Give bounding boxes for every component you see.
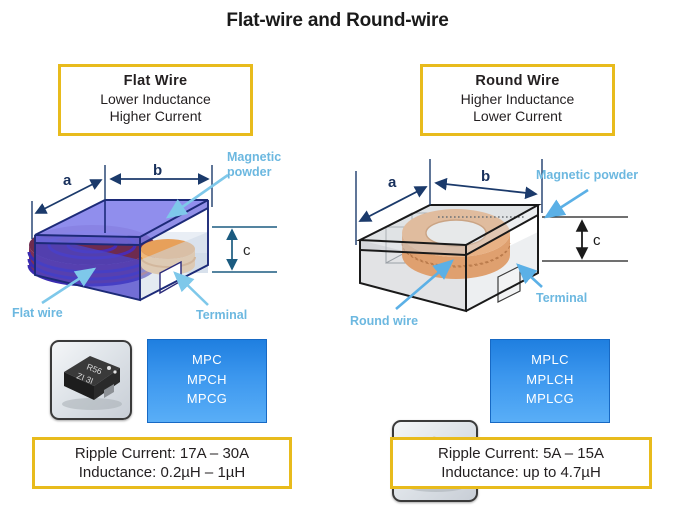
series-item-mpcg: MPCG [148, 392, 266, 406]
callout-flat-wire-line1: Lower Inductance [61, 91, 250, 108]
spec-ripple-current-round: Ripple Current: 5A – 15A [393, 444, 649, 463]
dimension-c-label: c [593, 232, 601, 249]
magnetic-powder-leader [546, 190, 588, 217]
series-item-mplch: MPLCH [491, 373, 609, 387]
spec-box-flat-wire: Ripple Current: 17A – 30A Inductance: 0.… [32, 437, 292, 489]
dimension-b-label: b [481, 168, 490, 185]
dimension-a-label: a [388, 174, 397, 191]
callout-round-wire-line2: Lower Current [423, 108, 612, 125]
series-item-mpc: MPC [148, 353, 266, 367]
round-wire-label: Round wire [350, 314, 418, 328]
series-item-mpch: MPCH [148, 373, 266, 387]
callout-flat-wire-line2: Higher Current [61, 108, 250, 125]
flat-wire-svg: a b c Magnetic powder Flat wire Terminal [0, 145, 337, 335]
round-wire-svg: a b c Magnetic powder Round wire Termina… [338, 145, 675, 335]
magnetic-powder-label-line1: Magnetic [227, 150, 281, 164]
callout-flat-wire: Flat Wire Lower Inductance Higher Curren… [58, 64, 253, 136]
flat-wire-inductor-photo: R56 ZI 3I [52, 342, 130, 418]
spec-inductance-flat: Inductance: 0.2µH – 1µH [35, 463, 289, 482]
product-photo-flat-wire: R56 ZI 3I [50, 340, 132, 420]
spec-box-round-wire: Ripple Current: 5A – 15A Inductance: up … [390, 437, 652, 489]
terminal-leader [175, 273, 208, 305]
series-item-mplc: MPLC [491, 353, 609, 367]
callout-round-wire: Round Wire Higher Inductance Lower Curre… [420, 64, 615, 136]
diagram-round-wire-inductor: a b c Magnetic powder Round wire Termina… [338, 145, 675, 335]
diagram-flat-wire-inductor: a b c Magnetic powder Flat wire Terminal [0, 145, 337, 335]
terminal-label: Terminal [196, 308, 247, 322]
terminal-label: Terminal [536, 291, 587, 305]
dimension-c-label: c [243, 242, 251, 259]
marking-dot-2 [113, 370, 116, 373]
spec-inductance-round: Inductance: up to 4.7µH [393, 463, 649, 482]
magnetic-powder-label-line2: powder [227, 165, 272, 179]
series-panel-flat-wire: MPC MPCH MPCG [147, 339, 267, 423]
dimension-c [542, 217, 628, 261]
callout-flat-wire-title: Flat Wire [61, 73, 250, 91]
dimension-b-label: b [153, 162, 162, 179]
spec-ripple-current-flat: Ripple Current: 17A – 30A [35, 444, 289, 463]
callout-round-wire-title: Round Wire [423, 73, 612, 91]
magnetic-powder-label: Magnetic powder [536, 168, 638, 182]
page-title: Flat-wire and Round-wire [0, 10, 675, 32]
series-panel-round-wire: MPLC MPLCH MPLCG [490, 339, 610, 423]
flat-wire-label: Flat wire [12, 306, 63, 320]
marking-dot-1 [107, 366, 111, 370]
callout-round-wire-line1: Higher Inductance [423, 91, 612, 108]
series-item-mplcg: MPLCG [491, 392, 609, 406]
dimension-a-label: a [63, 172, 72, 189]
